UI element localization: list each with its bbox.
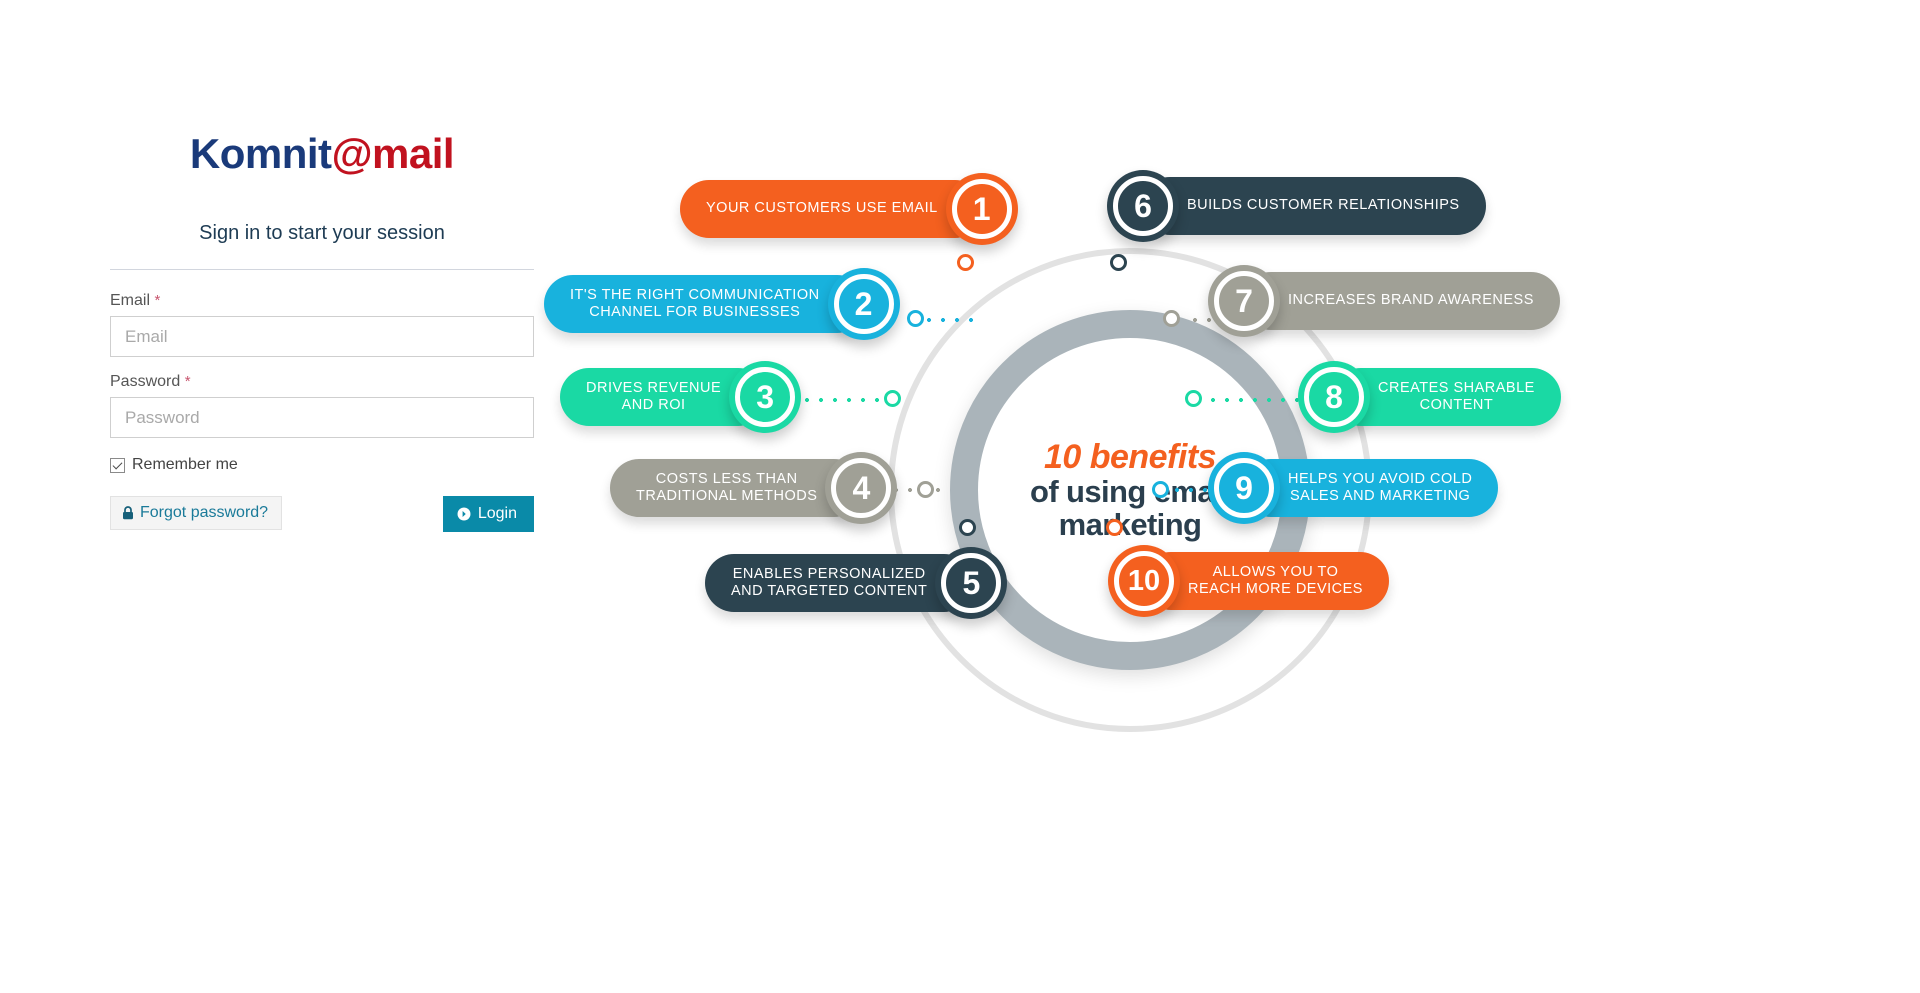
email-input[interactable] <box>110 316 534 357</box>
logo-at-symbol: @ <box>332 130 372 177</box>
orbit-dot-4 <box>917 481 934 498</box>
orbit-dot-9 <box>1152 481 1169 498</box>
benefit-number-2: 2 <box>855 288 873 320</box>
benefit-pill-1: YOUR CUSTOMERS USE EMAIL <box>680 180 984 238</box>
orbit-dot-7 <box>1163 310 1180 327</box>
benefit-badge-3: 3 <box>729 361 801 433</box>
benefit-item-10[interactable]: 10 ALLOWS YOU TO REACH MORE DEVICES <box>1108 550 1389 612</box>
connector-line-3 <box>786 398 896 402</box>
benefit-badge-6: 6 <box>1107 170 1179 242</box>
benefit-badge-7: 7 <box>1208 265 1280 337</box>
login-actions-row: Forgot password? Login <box>110 496 534 532</box>
benefit-pill-2: IT'S THE RIGHT COMMUNICATION CHANNEL FOR… <box>544 275 866 333</box>
lock-icon <box>122 506 134 520</box>
benefit-number-5: 5 <box>962 567 980 599</box>
benefit-item-7[interactable]: 7 INCREASES BRAND AWARENESS <box>1208 270 1560 332</box>
benefit-item-6[interactable]: 6 BUILDS CUSTOMER RELATIONSHIPS <box>1107 175 1486 237</box>
arrow-circle-right-icon <box>457 507 471 521</box>
logo-text-primary: Komnit <box>190 130 332 177</box>
orbit-dot-6 <box>1110 254 1127 271</box>
signin-subtitle: Sign in to start your session <box>110 222 534 245</box>
benefit-badge-8: 8 <box>1298 361 1370 433</box>
remember-me-row[interactable]: Remember me <box>110 456 534 474</box>
panel-divider <box>110 269 534 270</box>
login-panel: Komnit@mail Sign in to start your sessio… <box>110 130 534 532</box>
login-button-label: Login <box>478 506 517 522</box>
benefit-pill-9: HELPS YOU AVOID COLD SALES AND MARKETING <box>1242 459 1498 517</box>
orbit-dot-3 <box>884 390 901 407</box>
benefit-number-1: 1 <box>973 193 991 225</box>
benefit-number-6: 6 <box>1134 190 1152 222</box>
hub-subline-2: marketing <box>1059 508 1202 541</box>
remember-me-label: Remember me <box>132 456 238 474</box>
benefit-pill-5: ENABLES PERSONALIZED AND TARGETED CONTEN… <box>705 554 973 612</box>
password-required-asterisk: * <box>185 373 191 390</box>
benefit-item-5[interactable]: ENABLES PERSONALIZED AND TARGETED CONTEN… <box>705 552 1007 614</box>
orbit-dot-2 <box>907 310 924 327</box>
email-label-text: Email <box>110 292 150 309</box>
benefit-number-8: 8 <box>1325 381 1343 413</box>
benefit-item-1[interactable]: YOUR CUSTOMERS USE EMAIL 1 <box>680 178 1018 240</box>
forgot-password-button[interactable]: Forgot password? <box>110 496 282 530</box>
hub-headline: 10 benefits <box>1044 439 1216 475</box>
benefit-number-7: 7 <box>1235 285 1253 317</box>
email-field-group: Email * <box>110 292 534 357</box>
benefit-item-9[interactable]: 9 HELPS YOU AVOID COLD SALES AND MARKETI… <box>1208 457 1498 519</box>
benefit-badge-1: 1 <box>946 173 1018 245</box>
forgot-password-label: Forgot password? <box>140 505 268 521</box>
app-logo: Komnit@mail <box>110 130 534 178</box>
benefit-number-4: 4 <box>852 472 870 504</box>
orbit-dot-8 <box>1185 390 1202 407</box>
benefit-item-3[interactable]: DRIVES REVENUE AND ROI 3 <box>560 366 801 428</box>
password-label-text: Password <box>110 373 180 390</box>
email-benefits-infographic: 10 benefits of using email marketing YOU… <box>660 140 1900 820</box>
benefit-badge-2: 2 <box>828 268 900 340</box>
benefit-number-3: 3 <box>756 381 774 413</box>
benefit-badge-4: 4 <box>825 452 897 524</box>
email-required-asterisk: * <box>154 292 160 309</box>
password-field-group: Password * <box>110 373 534 438</box>
benefit-item-2[interactable]: IT'S THE RIGHT COMMUNICATION CHANNEL FOR… <box>544 273 900 335</box>
login-button[interactable]: Login <box>443 496 534 532</box>
orbit-dot-5 <box>959 519 976 536</box>
login-page: Komnit@mail Sign in to start your sessio… <box>0 0 1920 993</box>
benefit-pill-6: BUILDS CUSTOMER RELATIONSHIPS <box>1141 177 1486 235</box>
password-input[interactable] <box>110 397 534 438</box>
benefit-number-10: 10 <box>1128 567 1160 596</box>
benefit-pill-7: INCREASES BRAND AWARENESS <box>1242 272 1560 330</box>
connector-line-2 <box>922 318 974 322</box>
benefit-number-9: 9 <box>1235 472 1253 504</box>
benefit-badge-10: 10 <box>1108 545 1180 617</box>
password-label: Password * <box>110 373 534 391</box>
orbit-dot-1 <box>957 254 974 271</box>
benefit-item-8[interactable]: 8 CREATES SHARABLE CONTENT <box>1298 366 1561 428</box>
email-label: Email * <box>110 292 534 310</box>
remember-me-checkbox[interactable] <box>110 458 125 473</box>
benefit-badge-9: 9 <box>1208 452 1280 524</box>
benefit-badge-5: 5 <box>935 547 1007 619</box>
orbit-dot-10 <box>1106 519 1123 536</box>
logo-text-secondary: mail <box>372 130 454 177</box>
benefit-item-4[interactable]: COSTS LESS THAN TRADITIONAL METHODS 4 <box>610 457 897 519</box>
